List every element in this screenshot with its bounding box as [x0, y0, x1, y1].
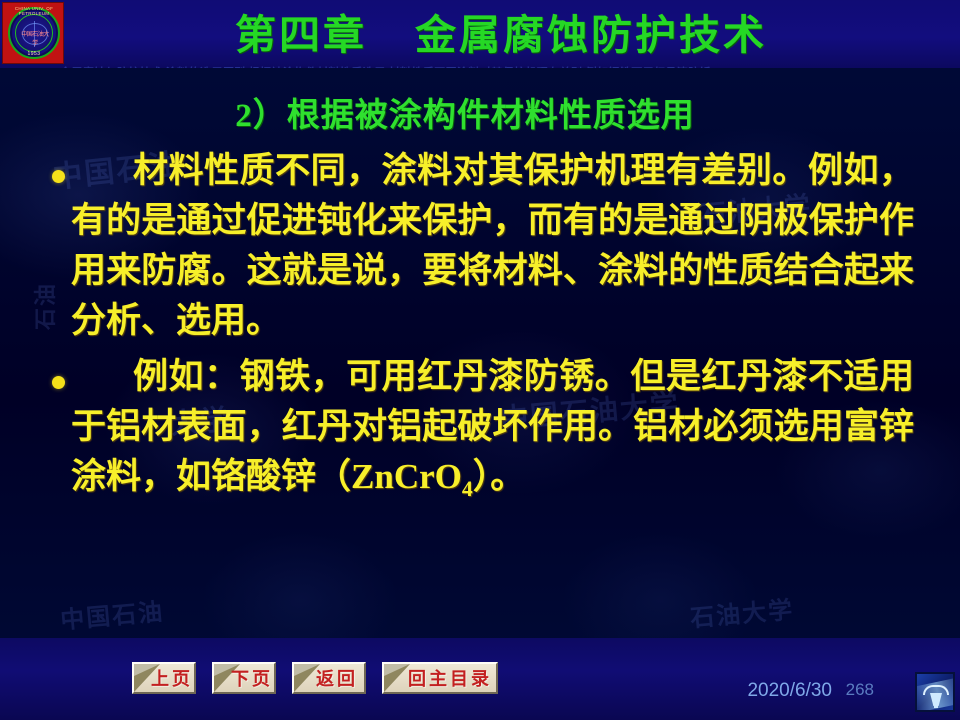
next-page-label: 下页 — [215, 665, 273, 691]
main-menu-button[interactable]: 回主目录 — [382, 662, 498, 694]
previous-page-label: 上页 — [135, 665, 193, 691]
back-label: 返回 — [300, 665, 358, 691]
page-title: 第四章 金属腐蚀防护技术 — [0, 0, 960, 62]
university-logo: 中国石油大学 CHINA UNIV. OF PETROLEUM 1953 — [2, 2, 64, 64]
slide-canvas: 中国石油 大学 中国石油大学 石油大学 中国石油 石油大学 石油 第四章 金属腐… — [0, 0, 960, 720]
slide-header: 第四章 金属腐蚀防护技术 金属腐蚀与防护技术 涂料的选用原则 根据被涂构件材料性… — [0, 0, 960, 68]
logo-year: 1953 — [3, 51, 65, 57]
bullet-item: 例如：钢铁，可用红丹漆防锈。但是红丹漆不适用于铝材表面，红丹对铝起破坏作用。铝材… — [0, 352, 960, 514]
bullet-item: 材料性质不同，涂料对其保护机理有差别。例如，有的是通过促进钝化来保护，而有的是通… — [0, 146, 960, 346]
footer-date: 2020/6/30 — [747, 680, 832, 702]
emblem-stem — [934, 704, 938, 708]
slide-footer: 上页 下页 返回 回主目录 2020/6/30 268 — [0, 638, 960, 720]
bullet-dot-icon — [52, 170, 65, 183]
bullet-dot-icon — [52, 376, 65, 389]
back-button[interactable]: 返回 — [292, 662, 366, 694]
logo-center-text: 中国石油大学 — [20, 29, 50, 47]
previous-page-button[interactable]: 上页 — [132, 662, 196, 694]
logo-arc-text: CHINA UNIV. OF PETROLEUM — [3, 6, 65, 16]
logo-inner-disc: 中国石油大学 — [15, 14, 53, 52]
slide-body: 2）根据被涂构件材料性质选用 材料性质不同，涂料对其保护机理有差别。例如，有的是… — [0, 68, 960, 638]
page-title-chapter: 第四章 — [235, 1, 367, 61]
formula-base: ZnCrO — [351, 457, 462, 496]
next-page-button[interactable]: 下页 — [212, 662, 276, 694]
subtitle-label: ）根据被涂构件材料性质选用 — [253, 98, 695, 134]
bullet-text: 材料性质不同，涂料对其保护机理有差别。例如，有的是通过促进钝化来保护，而有的是通… — [65, 146, 914, 346]
section-subtitle: 2）根据被涂构件材料性质选用 — [0, 88, 960, 136]
bullet-text-after-formula: ）。 — [473, 457, 526, 496]
formula-subscript: 4 — [462, 477, 473, 501]
bullet-text: 例如：钢铁，可用红丹漆防锈。但是红丹漆不适用于铝材表面，红丹对铝起破坏作用。铝材… — [65, 352, 914, 514]
subtitle-number: 2 — [235, 98, 253, 134]
chemical-formula: ZnCrO4 — [351, 457, 473, 496]
main-menu-label: 回主目录 — [388, 665, 492, 691]
navigation-buttons: 上页 下页 返回 回主目录 — [132, 662, 498, 694]
decorative-lamp-emblem-icon — [915, 672, 955, 712]
footer-page-number: 268 — [846, 680, 874, 700]
page-title-subject: 金属腐蚀防护技术 — [415, 1, 767, 61]
